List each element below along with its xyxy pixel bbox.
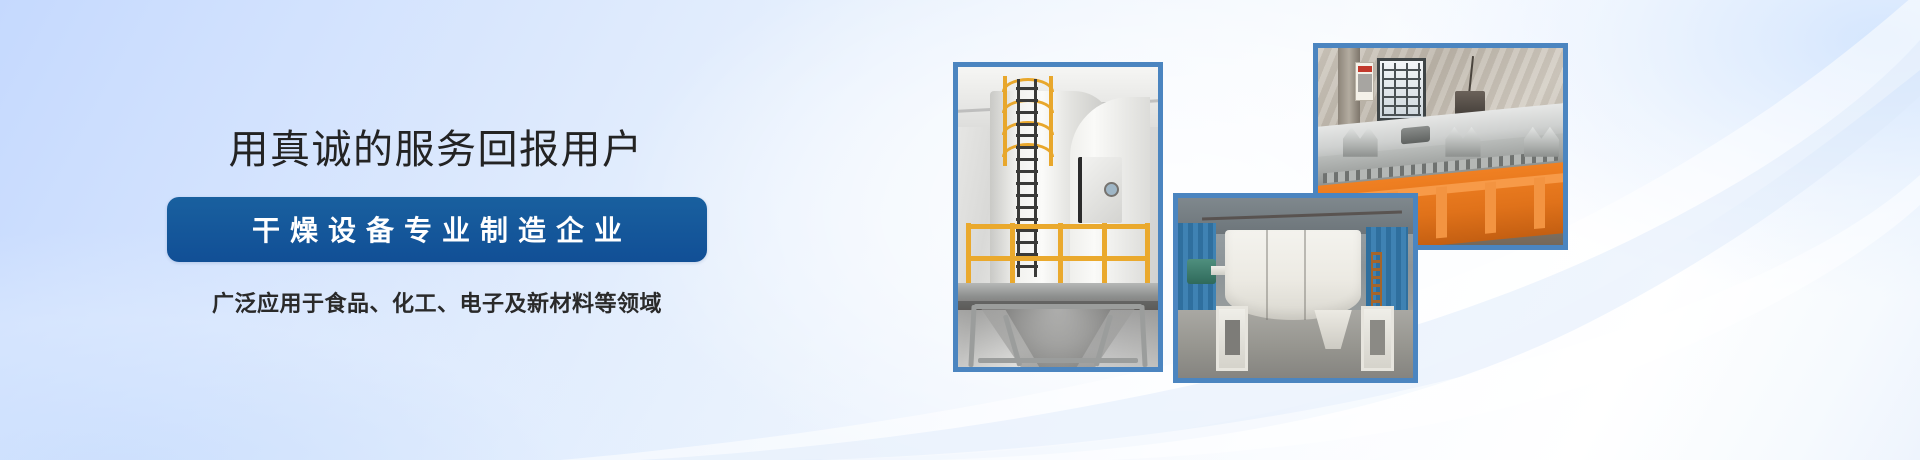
- promo-banner: 用真诚的服务回报用户 干燥设备专业制造企业 广泛应用于食品、化工、电子及新材料等…: [0, 0, 1920, 460]
- spray-dryer-tower-photo: [953, 62, 1163, 372]
- ribbon-mixer-photo: [1173, 193, 1418, 383]
- photo-collage: [0, 0, 1920, 460]
